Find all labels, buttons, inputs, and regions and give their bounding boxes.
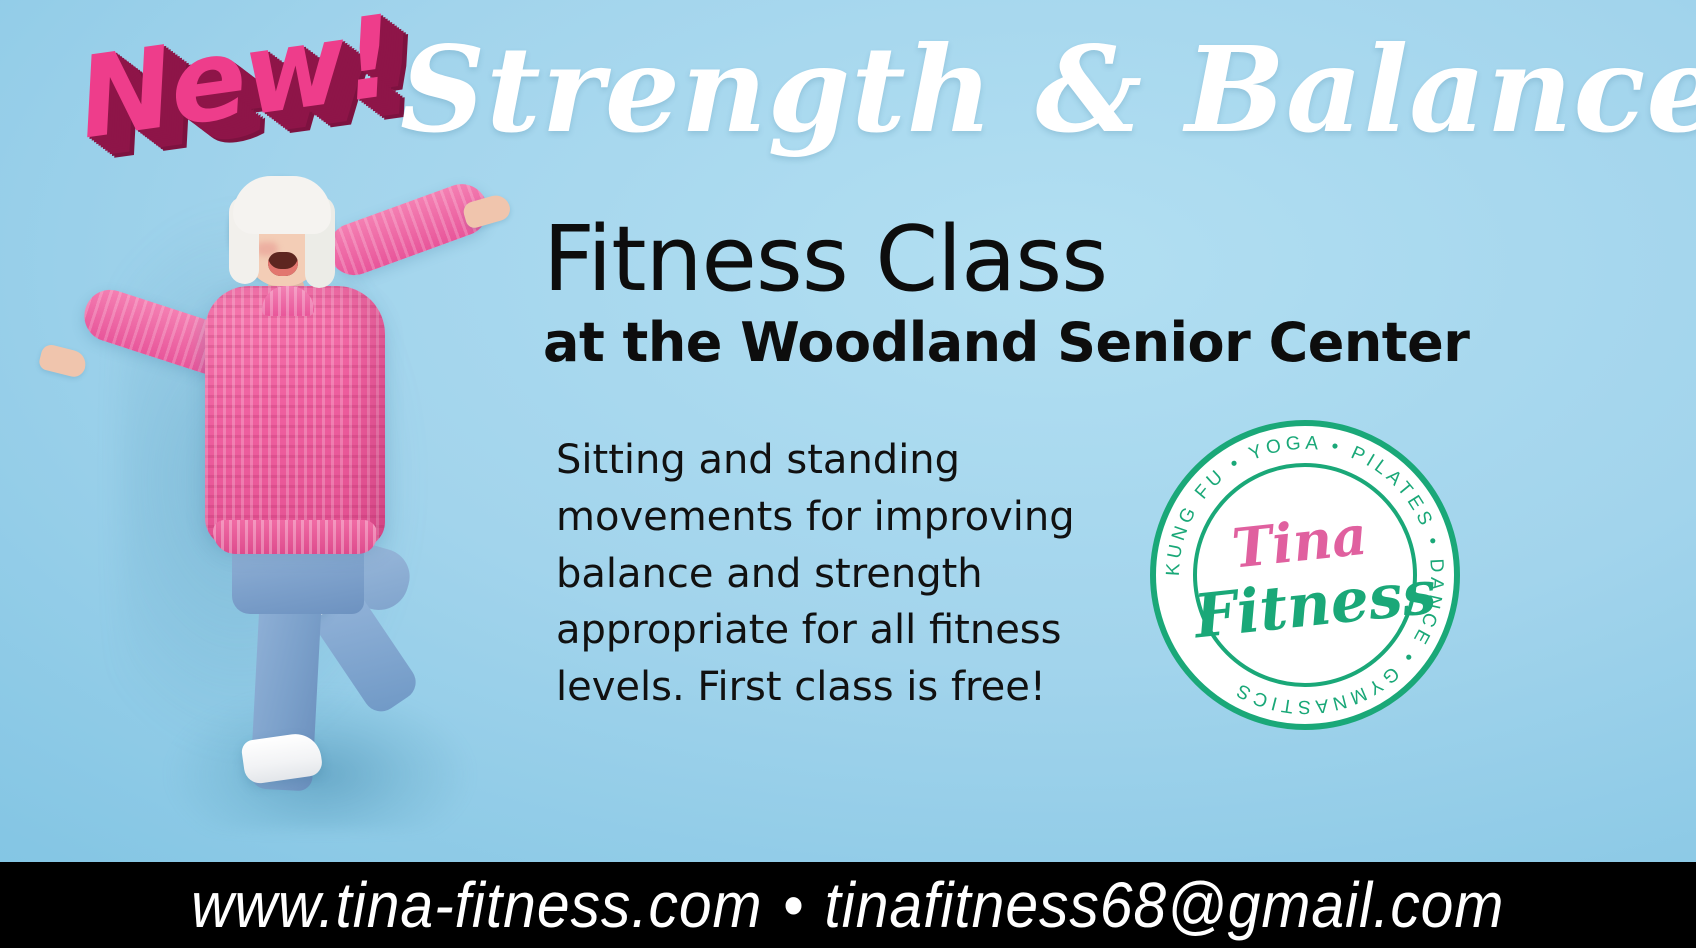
- headline: Strength & Balance: [400, 28, 1690, 152]
- right-arm: [321, 177, 495, 283]
- email-link[interactable]: tinafitness68@gmail.com: [825, 869, 1505, 941]
- body-line: balance and strength: [556, 546, 1116, 603]
- hair-bangs: [233, 176, 331, 234]
- smiling-mouth: [268, 252, 298, 276]
- body-copy: Sitting and standing movements for impro…: [556, 432, 1116, 716]
- body-line: levels. First class is free!: [556, 659, 1116, 716]
- footer-contact-line: www.tina-fitness.com•tinafitness68@gmail…: [191, 873, 1504, 937]
- logo-rings: QI GONG • TAI CHI • KUNG FU • YOGA • PIL…: [1148, 418, 1462, 732]
- footer-separator: •: [763, 869, 825, 941]
- contact-footer: www.tina-fitness.com•tinafitness68@gmail…: [0, 862, 1696, 948]
- tina-fitness-logo: QI GONG • TAI CHI • KUNG FU • YOGA • PIL…: [1148, 418, 1462, 732]
- left-hand: [38, 343, 89, 379]
- class-subtitle: at the Woodland Senior Center: [543, 315, 1493, 372]
- fitness-class-flyer: New! Strength & Balance Fitness Class at…: [0, 0, 1696, 948]
- website-link[interactable]: www.tina-fitness.com: [191, 869, 762, 941]
- body-line: appropriate for all fitness: [556, 602, 1116, 659]
- body-line: Sitting and standing: [556, 432, 1116, 489]
- title-block: Fitness Class at the Woodland Senior Cen…: [543, 215, 1493, 372]
- sweater-hem: [213, 520, 377, 554]
- logo-inner-ring: [1195, 465, 1415, 685]
- pink-sweater: [205, 286, 385, 548]
- class-title: Fitness Class: [543, 215, 1493, 305]
- body-line: movements for improving: [556, 489, 1116, 546]
